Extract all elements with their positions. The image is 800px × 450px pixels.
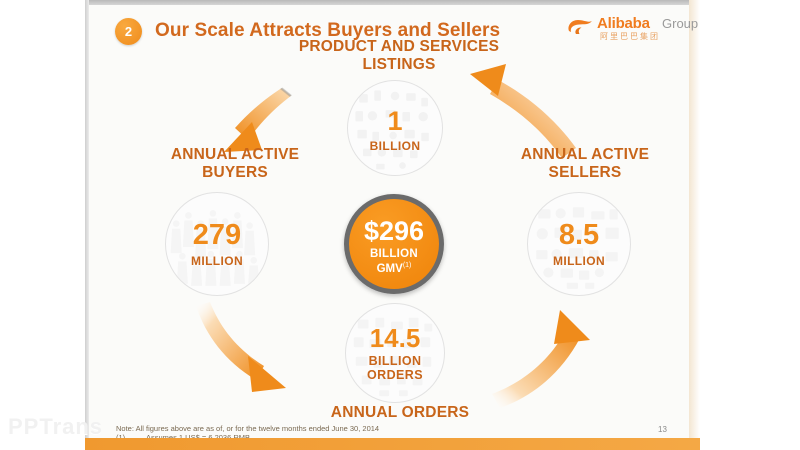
metric-sellers-text: 8.5 MILLION — [528, 221, 630, 268]
page-number: 13 — [658, 425, 667, 434]
metric-circle-listings: 1 BILLION — [347, 80, 443, 176]
label-product-services-listings: PRODUCT AND SERVICES LISTINGS — [289, 38, 509, 74]
metric-orders-value: 14.5 — [346, 325, 444, 351]
label-annual-active-sellers: ANNUAL ACTIVE SELLERS — [495, 146, 675, 182]
arrow-orders-to-sellers — [492, 310, 590, 408]
arrow-buyers-to-orders — [196, 302, 286, 392]
metric-orders-text: 14.5 BILLION ORDERS — [346, 325, 444, 382]
metric-gmv-label: GMV(1) — [349, 262, 439, 275]
arrow-listings-to-buyers — [224, 70, 322, 152]
metric-listings-text: 1 BILLION — [348, 108, 442, 153]
arrow-sellers-to-listings — [470, 64, 576, 158]
metric-circle-sellers: 8.5 MILLION — [527, 192, 631, 296]
footer-left-gap — [0, 438, 85, 450]
metric-gmv-label-text: GMV — [377, 263, 403, 275]
metric-gmv-value: $296 — [349, 218, 439, 245]
metric-sellers-unit: MILLION — [528, 254, 630, 268]
metric-buyers-value: 279 — [166, 221, 268, 250]
label-annual-orders: ANNUAL ORDERS — [300, 404, 500, 422]
metric-gmv-unit: BILLION — [349, 248, 439, 260]
metric-circle-buyers: 279 MILLION — [165, 192, 269, 296]
metric-circle-gmv: $296 BILLION GMV(1) — [344, 194, 444, 294]
metric-sellers-value: 8.5 — [528, 221, 630, 250]
slide-canvas: PPTrans 2 Our Scale Attracts Buyers and … — [0, 0, 800, 450]
metric-gmv-footnote-ref: (1) — [403, 262, 412, 269]
metric-listings-unit: BILLION — [348, 139, 442, 153]
label-annual-active-buyers: ANNUAL ACTIVE BUYERS — [150, 146, 320, 182]
metric-gmv-text: $296 BILLION GMV(1) — [349, 218, 439, 275]
metric-circle-orders: 14.5 BILLION ORDERS — [345, 303, 445, 403]
metric-buyers-text: 279 MILLION — [166, 221, 268, 268]
metric-buyers-unit: MILLION — [166, 254, 268, 268]
footnote-note: Note: All figures above are as of, or fo… — [116, 424, 379, 433]
metric-orders-unit: BILLION ORDERS — [346, 354, 444, 382]
metric-listings-value: 1 — [348, 108, 442, 135]
footer-bar — [85, 438, 700, 450]
